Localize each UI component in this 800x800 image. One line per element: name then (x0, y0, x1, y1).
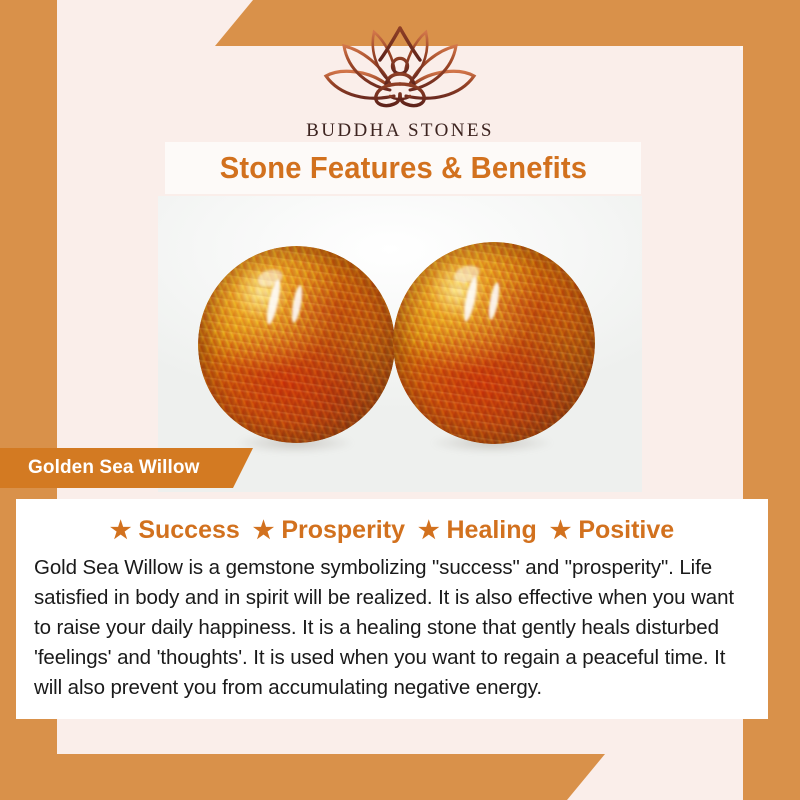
benefit-item: ★ Success (110, 516, 240, 545)
description-panel: ★ Success ★ Prosperity ★ Healing ★ Posit… (16, 499, 768, 719)
star-icon: ★ (110, 519, 132, 543)
brand-wordmark: BUDDHA STONES (0, 120, 800, 142)
star-icon: ★ (253, 519, 275, 543)
brand-logo: BUDDHA STONES (0, 22, 800, 142)
stone-name-label: Golden Sea Willow (28, 457, 200, 479)
stone-sphere-left (198, 246, 395, 443)
benefit-item: ★ Healing (418, 516, 537, 545)
star-icon: ★ (550, 519, 572, 543)
title-card: Stone Features & Benefits (165, 142, 641, 194)
benefit-item: ★ Prosperity (253, 516, 405, 545)
infographic-content: BUDDHA STONES Stone Features & Benefits (0, 0, 800, 800)
sphere-rim-shading (198, 246, 395, 443)
sphere-rim-shading (393, 242, 595, 444)
star-icon: ★ (418, 519, 440, 543)
benefit-label: Positive (578, 516, 674, 545)
product-photo (158, 196, 642, 492)
stone-name-banner: Golden Sea Willow (0, 448, 253, 488)
product-infographic: BUDDHA STONES Stone Features & Benefits (0, 0, 800, 800)
description-text: Gold Sea Willow is a gemstone symbolizin… (34, 553, 752, 703)
benefit-label: Healing (447, 516, 537, 545)
benefit-label: Prosperity (281, 516, 405, 545)
benefit-item: ★ Positive (550, 516, 674, 545)
page-title: Stone Features & Benefits (219, 150, 586, 186)
benefits-row: ★ Success ★ Prosperity ★ Healing ★ Posit… (16, 499, 768, 545)
benefit-label: Success (138, 516, 239, 545)
stone-sphere-right (393, 242, 595, 444)
lotus-meditation-icon (316, 22, 484, 114)
